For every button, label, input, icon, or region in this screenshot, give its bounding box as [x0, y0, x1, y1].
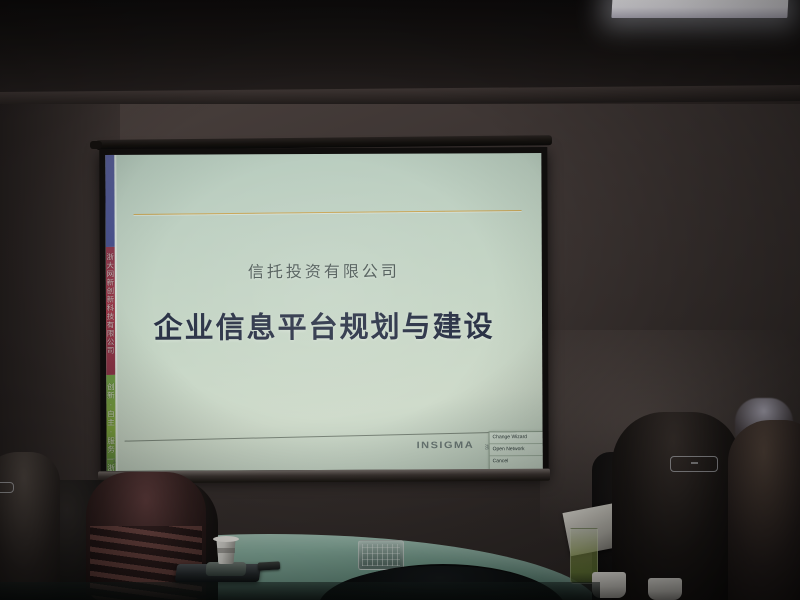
remote-control[interactable]	[258, 561, 280, 570]
mug-right	[648, 578, 682, 600]
projected-slide: 浙大网新创新科技有限公司 创新·自主·服务—浙大网新 信托投资有限公司 企业信息…	[105, 153, 542, 471]
cup-saucer	[206, 562, 247, 576]
ceiling-light-icon	[611, 0, 788, 18]
paper-cup-rim	[213, 536, 239, 542]
conference-room-photo: 浙大网新创新科技有限公司 创新·自主·服务—浙大网新 信托投资有限公司 企业信息…	[0, 0, 800, 600]
screen-vignette	[105, 153, 542, 471]
table-edge	[0, 582, 600, 600]
glasses-icon	[670, 456, 718, 472]
attendee-left-front	[0, 452, 60, 600]
projection-screen: 浙大网新创新科技有限公司 创新·自主·服务—浙大网新 信托投资有限公司 企业信息…	[99, 147, 548, 479]
glasses-icon	[0, 482, 14, 493]
attendee-right-glasses	[612, 412, 740, 600]
screen-roller-knob	[90, 141, 102, 149]
paper-cup-band	[217, 548, 235, 553]
wire-basket	[358, 540, 404, 570]
attendee-right-edge	[728, 420, 800, 600]
